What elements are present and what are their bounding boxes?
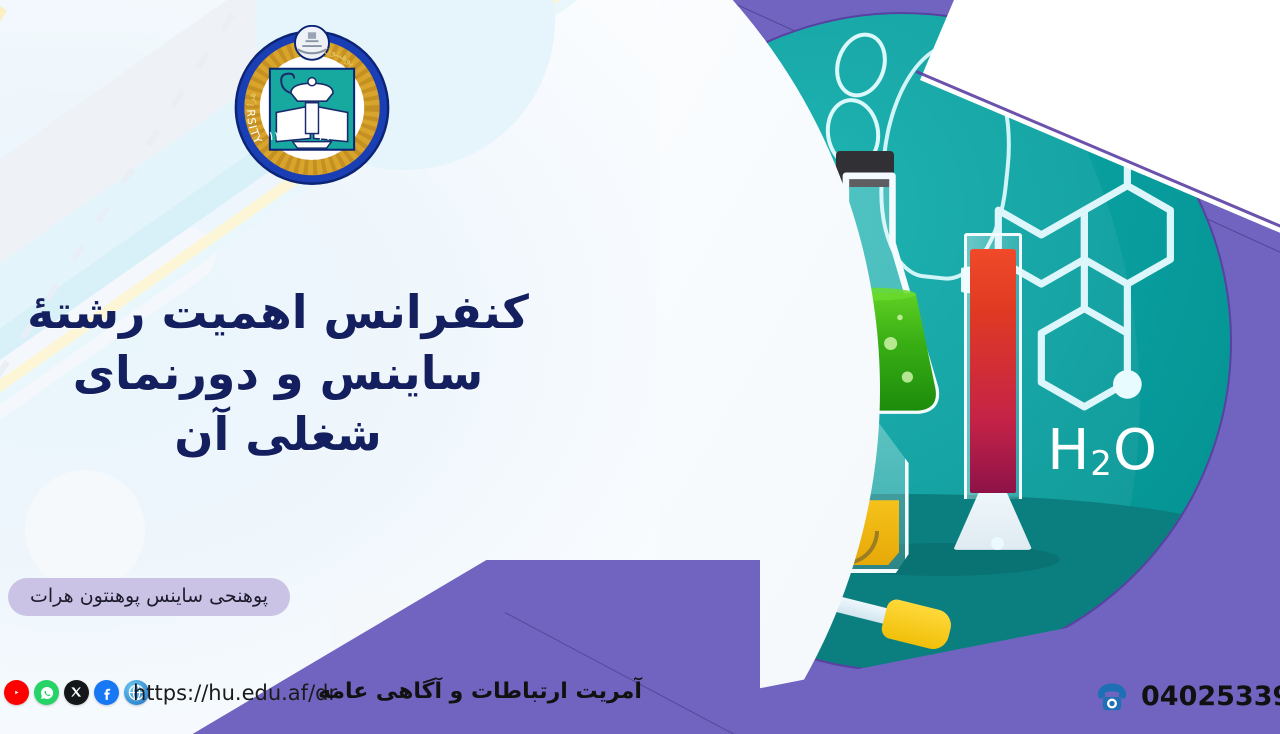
facebook-glyph [99,685,115,701]
website-url[interactable]: https://hu.edu.af/dr [133,681,337,705]
public-relations-office-label: آمریت ارتباطات و آگاهی عامه [318,679,642,704]
title-line-2: ساینس و دورنمای شغلی آن [0,343,556,465]
whatsapp-glyph [39,685,55,701]
title-line-1: کنفرانس اهمیت رشتۀ [0,282,556,343]
banner-title: کنفرانس اهمیت رشتۀ ساینس و دورنمای شغلی … [0,282,556,466]
herat-university-logo: ۱۳ ۶۷ هرات پوهنتون HERAT UNIVERSITY [231,25,393,187]
youtube-glyph [9,685,24,700]
conference-banner: H2O ۱۳ [0,0,1280,734]
facebook-icon[interactable] [94,680,119,705]
telephone-icon [1092,676,1132,716]
social-links[interactable] [4,680,149,705]
phone-number: 040253399 [1141,681,1280,712]
youtube-icon[interactable] [4,680,29,705]
bg-blob [25,470,145,590]
x-glyph [70,686,83,699]
department-badge: پوهنحی ساینس پوهنتون هرات [8,578,290,616]
logo-year-left: ۶۷ [318,129,332,143]
contact-phone[interactable]: 040253399 [1092,676,1280,716]
whatsapp-icon[interactable] [34,680,59,705]
x-twitter-icon[interactable] [64,680,89,705]
logo-year-right: ۱۳ [268,129,282,143]
